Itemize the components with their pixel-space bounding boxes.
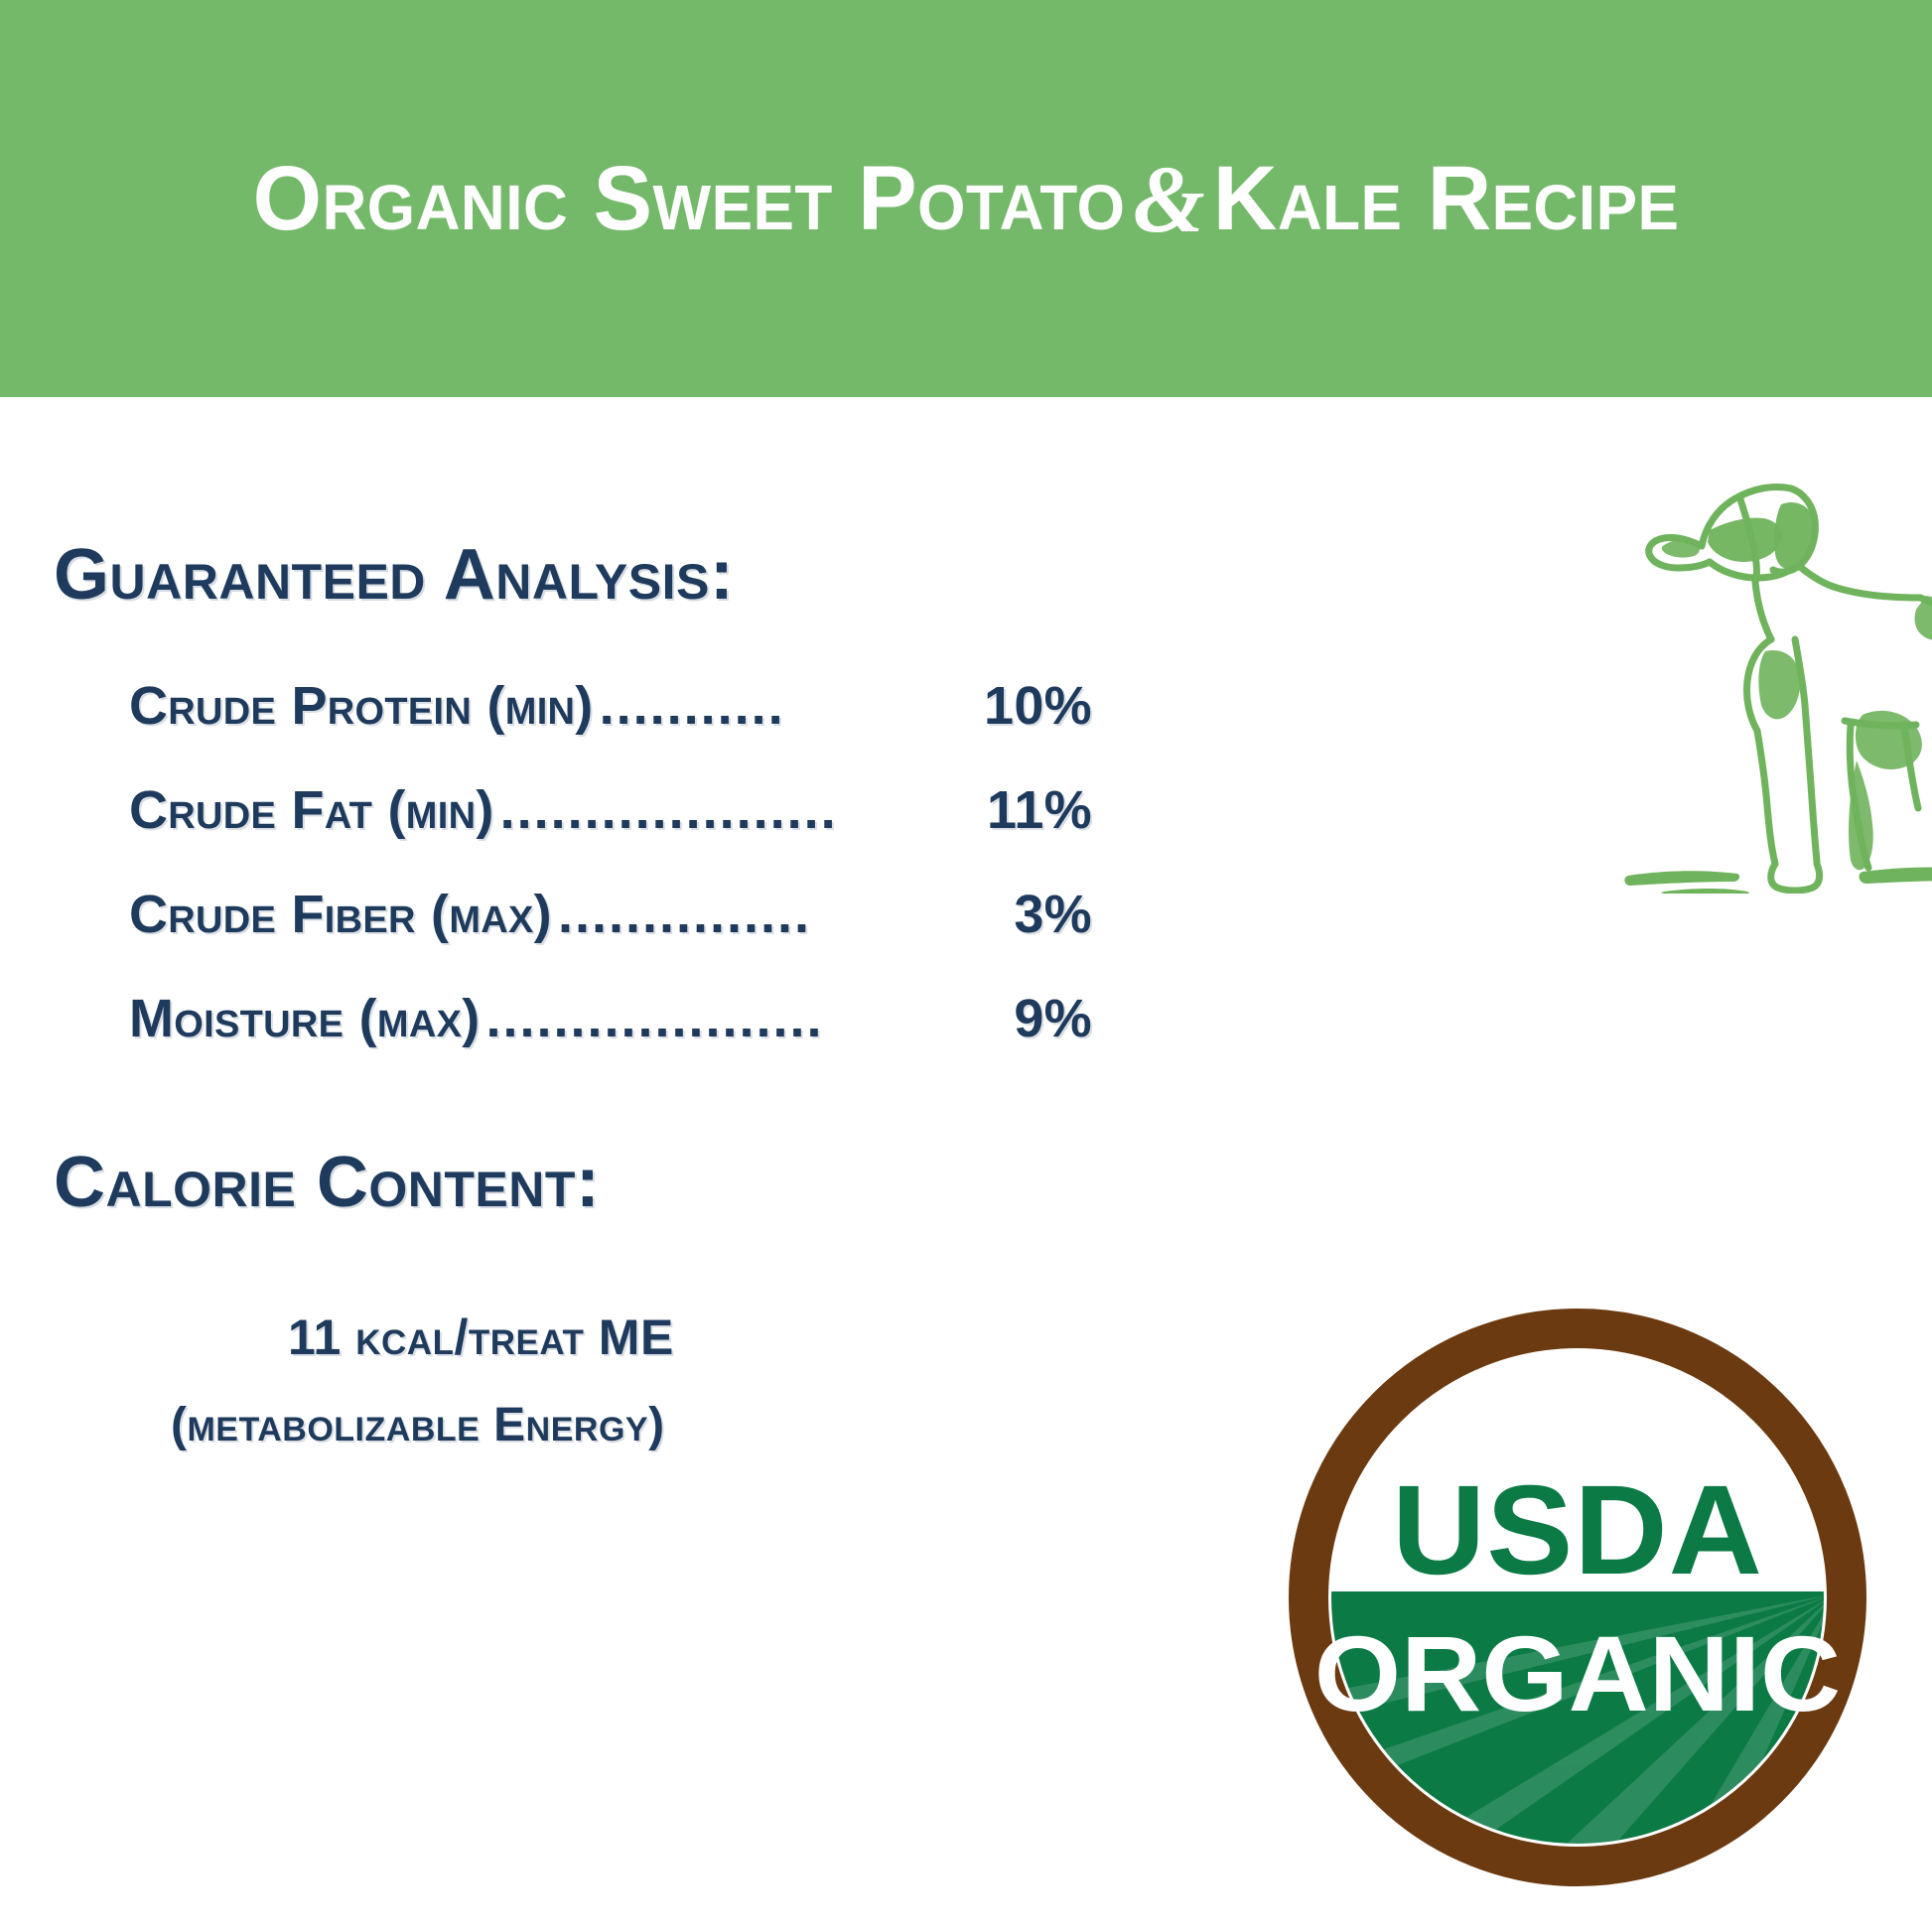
header-banner: Organic Sweet Potato & Kale Recipe [0, 0, 1932, 397]
product-label-panel: Organic Sweet Potato & Kale Recipe Guara… [0, 0, 1932, 1932]
analysis-leader-dots: ........... [600, 675, 978, 737]
page-title: Organic Sweet Potato & Kale Recipe [29, 0, 1903, 397]
analysis-value: 9% [1014, 988, 1092, 1049]
calorie-value-line: 11 kcal/treat ME [288, 1309, 674, 1366]
calorie-note-line: (metabolizable Energy) [171, 1398, 665, 1452]
guaranteed-analysis-heading: Guaranteed Analysis: [54, 534, 734, 616]
analysis-label: Crude Fiber (max) [129, 884, 552, 945]
analysis-label: Crude Protein (min) [129, 675, 594, 737]
analysis-value: 10% [984, 675, 1092, 737]
analysis-row: Moisture (max) .................... 9% [129, 988, 1092, 1092]
analysis-value: 11% [987, 779, 1092, 841]
title-part-two: Kale Recipe [1213, 147, 1679, 251]
analysis-leader-dots: .................... [500, 779, 981, 841]
guaranteed-analysis-list: Crude Protein (min) ........... 10% Crud… [129, 675, 1092, 1092]
seal-usda-text: USDA [1392, 1459, 1763, 1601]
calorie-content-heading: Calorie Content: [54, 1142, 600, 1223]
analysis-value: 3% [1014, 884, 1092, 945]
dog-illustration-icon [1606, 427, 1932, 894]
analysis-label: Crude Fat (min) [129, 779, 494, 841]
analysis-row: Crude Fiber (max) ............... 3% [129, 884, 1092, 988]
seal-organic-text: ORGANIC [1314, 1614, 1841, 1734]
usda-organic-seal: USDA ORGANIC [1284, 1304, 1871, 1891]
analysis-label: Moisture (max) [129, 988, 481, 1049]
analysis-row: Crude Fat (min) .................... 11% [129, 779, 1092, 884]
title-part-one: Organic Sweet Potato [253, 147, 1126, 251]
ampersand-glyph: & [1125, 144, 1212, 254]
analysis-leader-dots: ............... [558, 884, 1008, 945]
analysis-row: Crude Protein (min) ........... 10% [129, 675, 1092, 779]
analysis-leader-dots: .................... [486, 988, 1009, 1049]
